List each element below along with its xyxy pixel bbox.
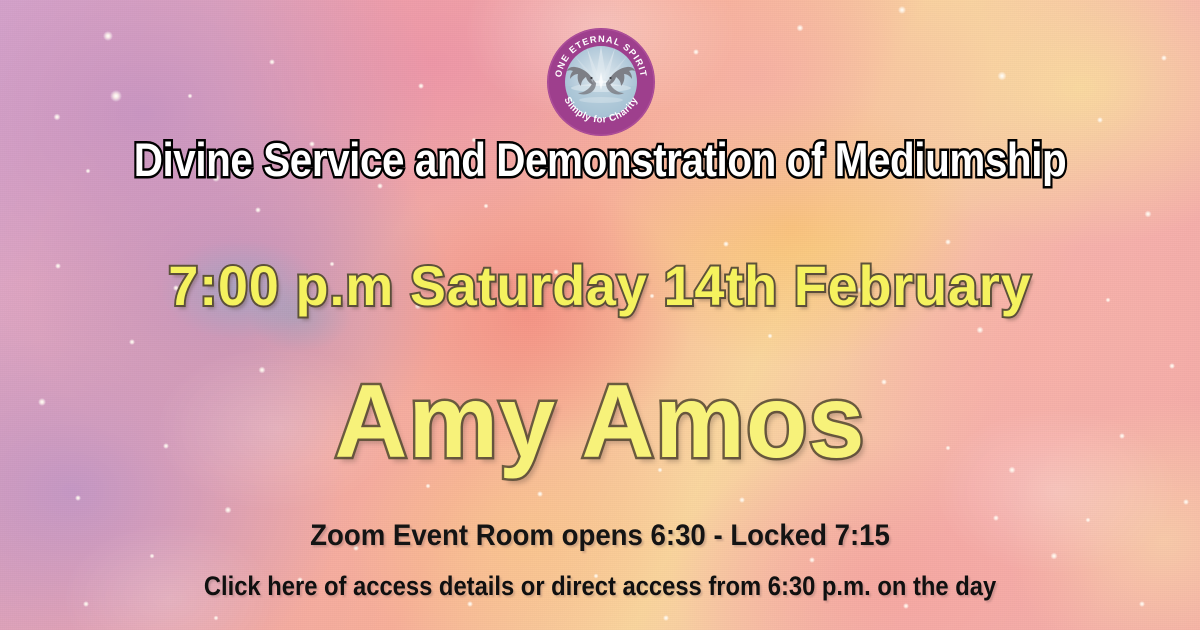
featured-medium-name: Amy Amos bbox=[18, 370, 1182, 474]
charity-logo[interactable]: ONE ETERNAL SPIRIT Simply for Charity bbox=[545, 26, 657, 138]
event-datetime: 7:00 p.m Saturday 14th February bbox=[24, 258, 1176, 314]
page-title: Divine Service and Demonstration of Medi… bbox=[84, 136, 1116, 183]
access-details-link[interactable]: Click here of access details or direct a… bbox=[72, 573, 1128, 600]
zoom-room-note: Zoom Event Room opens 6:30 - Locked 7:15 bbox=[48, 521, 1152, 551]
event-poster: ONE ETERNAL SPIRIT Simply for Charity Di… bbox=[0, 0, 1200, 630]
